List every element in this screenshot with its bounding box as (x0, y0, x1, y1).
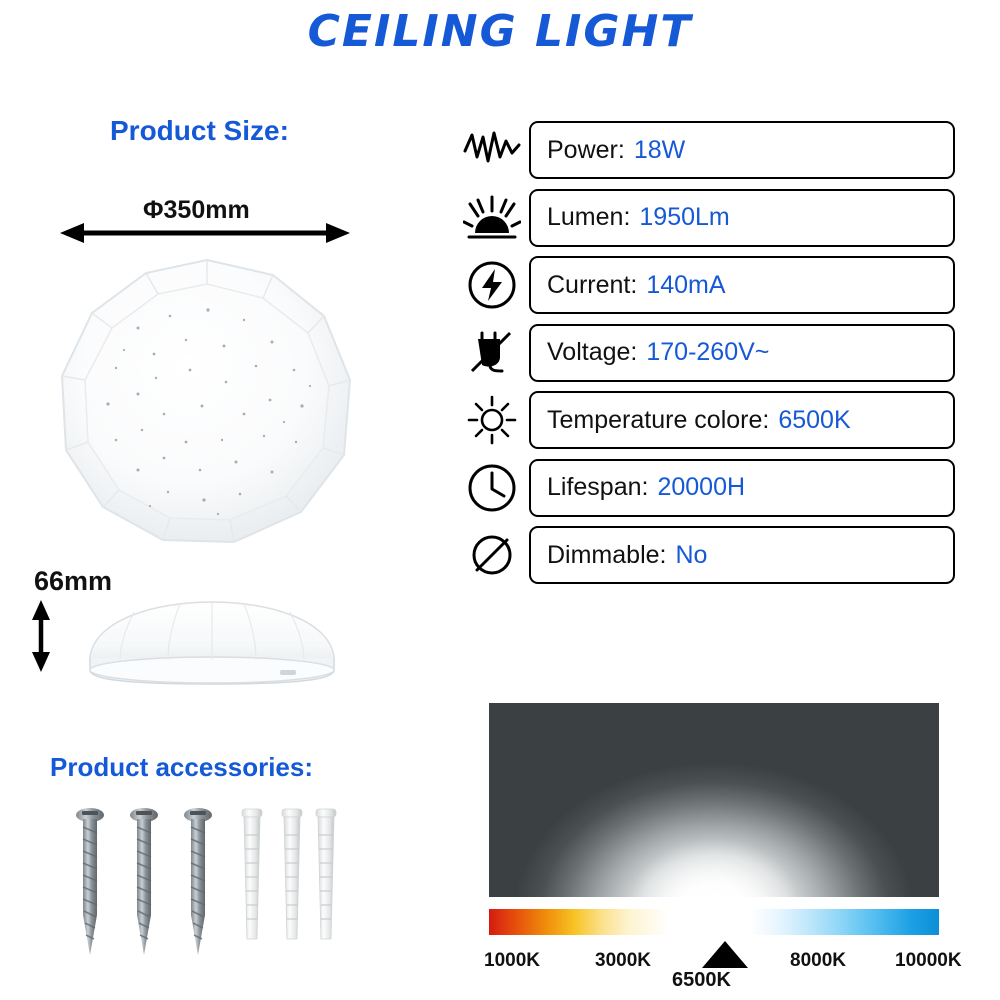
sun-burst-lumen-icon (455, 190, 529, 246)
waveform-power-icon (455, 122, 529, 178)
accessories-label: Product accessories: (50, 752, 313, 783)
spec-box-voltage: Voltage: 170-260V~ (529, 324, 955, 382)
spec-key-dimmable: Dimmable: (547, 541, 666, 570)
kelvin-label-8000k: 8000K (790, 950, 846, 972)
specifications-list: Power: 18W Lumen: 1950Lm (455, 118, 955, 591)
spec-box-dimmable: Dimmable: No (529, 526, 955, 584)
page-title: CEILING LIGHT (0, 6, 1000, 57)
horizontal-arrow-icon (60, 222, 350, 244)
spec-value-lumen: 1950Lm (639, 203, 729, 232)
kelvin-label-3000k: 3000K (595, 950, 651, 972)
spec-value-dimmable: No (675, 541, 707, 570)
clock-lifespan-icon (455, 460, 529, 516)
kelvin-label-1000k: 1000K (484, 950, 540, 972)
kelvin-marker-triangle-icon (702, 941, 748, 968)
spec-box-lifespan: Lifespan: 20000H (529, 459, 955, 517)
spec-value-power: 18W (634, 136, 685, 165)
spec-row-power: Power: 18W (455, 118, 955, 182)
spec-box-temperature: Temperature colore: 6500K (529, 391, 955, 449)
spec-box-current: Current: 140mA (529, 256, 955, 314)
spec-row-voltage: Voltage: 170-260V~ (455, 321, 955, 385)
spec-value-lifespan: 20000H (657, 473, 745, 502)
spec-row-lumen: Lumen: 1950Lm (455, 186, 955, 250)
spec-row-temperature: Temperature colore: 6500K (455, 388, 955, 452)
screws-and-plugs-image (68, 805, 340, 965)
kelvin-label-10000k: 10000K (895, 950, 962, 972)
plug-voltage-icon (455, 325, 529, 381)
height-label: 66mm (34, 566, 112, 597)
kelvin-marker-label: 6500K (672, 969, 731, 992)
spec-box-power: Power: 18W (529, 121, 955, 179)
spec-value-temperature: 6500K (778, 406, 850, 435)
spec-row-dimmable: Dimmable: No (455, 523, 955, 587)
ceiling-lamp-side-view (62, 598, 362, 698)
crossed-circle-dimmable-icon (455, 527, 529, 583)
spec-row-current: Current: 140mA (455, 253, 955, 317)
light-beam-photo (489, 703, 939, 897)
ceiling-lamp-top-view (58, 258, 356, 546)
diameter-label: Φ350mm (143, 196, 250, 225)
product-size-label: Product Size: (110, 115, 289, 147)
spec-key-current: Current: (547, 271, 637, 300)
spec-key-lumen: Lumen: (547, 203, 630, 232)
lightning-bolt-current-icon (455, 257, 529, 313)
spec-value-current: 140mA (646, 271, 725, 300)
spec-key-voltage: Voltage: (547, 338, 637, 367)
spec-row-lifespan: Lifespan: 20000H (455, 456, 955, 520)
spec-box-lumen: Lumen: 1950Lm (529, 189, 955, 247)
sun-temperature-icon (455, 392, 529, 448)
spec-key-power: Power: (547, 136, 625, 165)
spec-key-temperature: Temperature colore: (547, 406, 769, 435)
spec-value-voltage: 170-260V~ (646, 338, 769, 367)
color-temperature-gradient-bar (489, 909, 939, 935)
vertical-arrow-icon (30, 600, 52, 672)
spec-key-lifespan: Lifespan: (547, 473, 648, 502)
